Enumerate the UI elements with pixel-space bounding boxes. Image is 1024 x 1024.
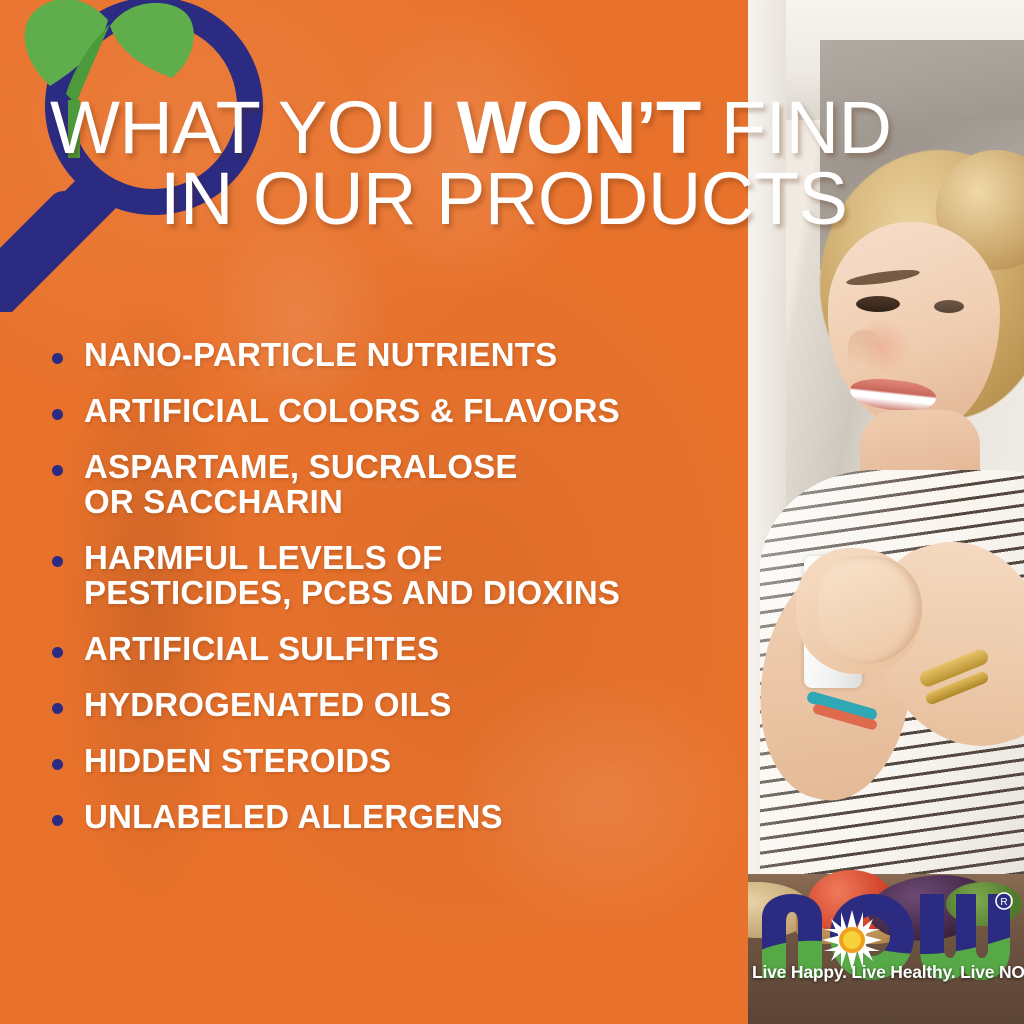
list-item: ASPARTAME, SUCRALOSE OR SACCHARIN: [48, 450, 748, 520]
excluded-ingredients-list: NANO-PARTICLE NUTRIENTS ARTIFICIAL COLOR…: [48, 338, 748, 856]
list-item: HYDROGENATED OILS: [48, 688, 748, 723]
list-item-line: HYDROGENATED OILS: [84, 688, 748, 723]
woman-eye-right: [934, 300, 964, 313]
brand-tagline: Live Happy. Live Healthy. Live NOW.: [752, 962, 1014, 983]
list-item: NANO-PARTICLE NUTRIENTS: [48, 338, 748, 373]
list-item: HIDDEN STEROIDS: [48, 744, 748, 779]
list-item-line: UNLABELED ALLERGENS: [84, 800, 748, 835]
list-item-line: NANO-PARTICLE NUTRIENTS: [84, 338, 748, 373]
list-item: UNLABELED ALLERGENS: [48, 800, 748, 835]
promo-poster: WHAT YOU WON’T FIND IN OUR PRODUCTS NANO…: [0, 0, 1024, 1024]
list-item-line: ASPARTAME, SUCRALOSE: [84, 450, 748, 485]
list-item-line: ARTIFICIAL COLORS & FLAVORS: [84, 394, 748, 429]
list-item: HARMFUL LEVELS OF PESTICIDES, PCBS AND D…: [48, 541, 748, 611]
svg-text:R: R: [1000, 897, 1007, 908]
list-item-line: HARMFUL LEVELS OF: [84, 541, 748, 576]
list-item-line: HIDDEN STEROIDS: [84, 744, 748, 779]
headline-line-2: IN OUR PRODUCTS: [50, 163, 980, 234]
woman-eye-left: [856, 296, 900, 312]
list-item: ARTIFICIAL SULFITES: [48, 632, 748, 667]
list-item-line: OR SACCHARIN: [84, 485, 748, 520]
list-item-line: ARTIFICIAL SULFITES: [84, 632, 748, 667]
list-item-line: PESTICIDES, PCBS AND DIOXINS: [84, 576, 748, 611]
page-title: WHAT YOU WON’T FIND IN OUR PRODUCTS: [50, 92, 980, 234]
sunburst-icon: [822, 910, 882, 970]
list-item: ARTIFICIAL COLORS & FLAVORS: [48, 394, 748, 429]
headline-line-1: WHAT YOU WON’T FIND: [50, 92, 980, 163]
